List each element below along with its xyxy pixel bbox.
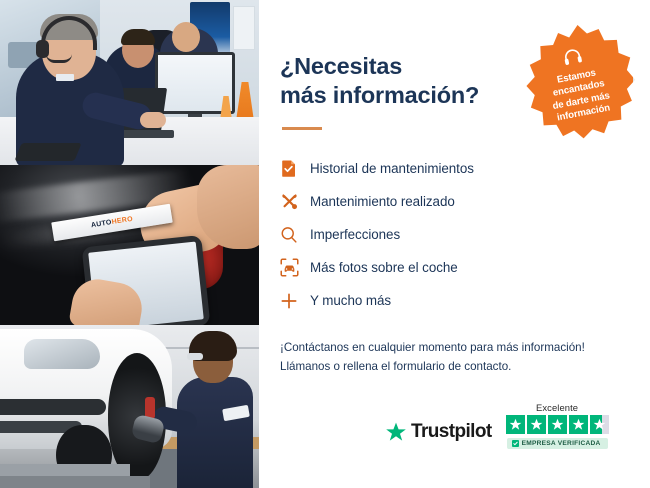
star-partial [590, 415, 609, 434]
star-filled [548, 415, 567, 434]
safety-glasses [187, 353, 203, 360]
feature-label: Historial de mantenimientos [310, 161, 474, 176]
verified-check-icon [512, 440, 519, 447]
contact-text: ¡Contáctanos en cualquier momento para m… [280, 339, 625, 377]
feature-list: Historial de mantenimientos Mantenimient… [280, 152, 626, 317]
trustpilot-block[interactable]: Trustpilot Excelente EMPRESA VERIFICADA [385, 402, 609, 450]
magnifier-icon [280, 226, 310, 244]
trustpilot-logo[interactable]: Trustpilot [385, 421, 492, 449]
lift-platform-upper [0, 464, 130, 476]
title-divider [282, 127, 322, 130]
rating-label: Excelente [536, 402, 578, 413]
page-title: ¿Necesitas más información? [280, 52, 510, 110]
trustpilot-rating: Excelente EMPRESA VERIFICADA [506, 402, 609, 450]
plus-icon [280, 292, 310, 310]
feature-label: Más fotos sobre el coche [310, 260, 458, 275]
ruler-brand-hero: HERO [111, 216, 133, 226]
feature-label: Imperfecciones [310, 227, 400, 242]
star-filled [506, 415, 525, 434]
feature-item-fotos: Más fotos sobre el coche [280, 251, 626, 284]
content-column: ¿Necesitas más información? Historial de… [259, 0, 650, 488]
agent-name-tag [56, 74, 74, 81]
feature-item-mantenimiento: Mantenimiento realizado [280, 185, 626, 218]
page-title-line-2: más información? [280, 82, 479, 108]
feature-label: Mantenimiento realizado [310, 194, 455, 209]
trustpilot-star-icon [385, 422, 407, 443]
star-filled [569, 415, 588, 434]
background-agent-far-head [172, 22, 200, 52]
star-filled [527, 415, 546, 434]
feature-label: Y mucho más [310, 293, 391, 308]
feature-item-mas: Y mucho más [280, 284, 626, 317]
call-centre-agents-photo [0, 0, 259, 165]
lift-platform-lower [0, 476, 150, 488]
headset-icon [562, 47, 585, 72]
car-grille-upper [0, 399, 106, 415]
foreground-agent-hand [140, 112, 166, 128]
promo-panel: AUTOHERO [0, 0, 650, 488]
star-rating [506, 415, 609, 434]
info-badge: Estamos encantados de darte más informac… [522, 25, 633, 139]
trustpilot-wordmark: Trustpilot [411, 421, 492, 443]
verified-label: EMPRESA VERIFICADA [522, 440, 601, 447]
feature-item-imperfecciones: Imperfecciones [280, 218, 626, 251]
page-title-line-1: ¿Necesitas [280, 53, 402, 79]
verified-company-badge: EMPRESA VERIFICADA [507, 438, 608, 449]
car-headlight [24, 339, 100, 369]
feature-item-historial: Historial de mantenimientos [280, 152, 626, 185]
desk-tablet [14, 143, 81, 161]
ruler-brand-auto: AUTO [91, 219, 113, 229]
car-viewfinder-icon [280, 258, 310, 277]
badge-content: Estamos encantados de darte más informac… [512, 15, 643, 148]
mechanic-wheel-inspection-photo [0, 325, 259, 488]
contact-line-2: Llámanos o rellena el formulario de cont… [280, 360, 511, 373]
car-inspection-ruler-photo: AUTOHERO [0, 165, 259, 325]
crossed-tools-icon [280, 192, 310, 211]
photo-column: AUTOHERO [0, 0, 259, 488]
background-agent-hair [121, 29, 155, 45]
clipboard-check-icon [280, 159, 310, 178]
wall-poster-secondary [233, 6, 255, 50]
badge-text: Estamos encantados de darte más informac… [533, 63, 627, 127]
contact-line-1: ¡Contáctanos en cualquier momento para m… [280, 341, 585, 354]
